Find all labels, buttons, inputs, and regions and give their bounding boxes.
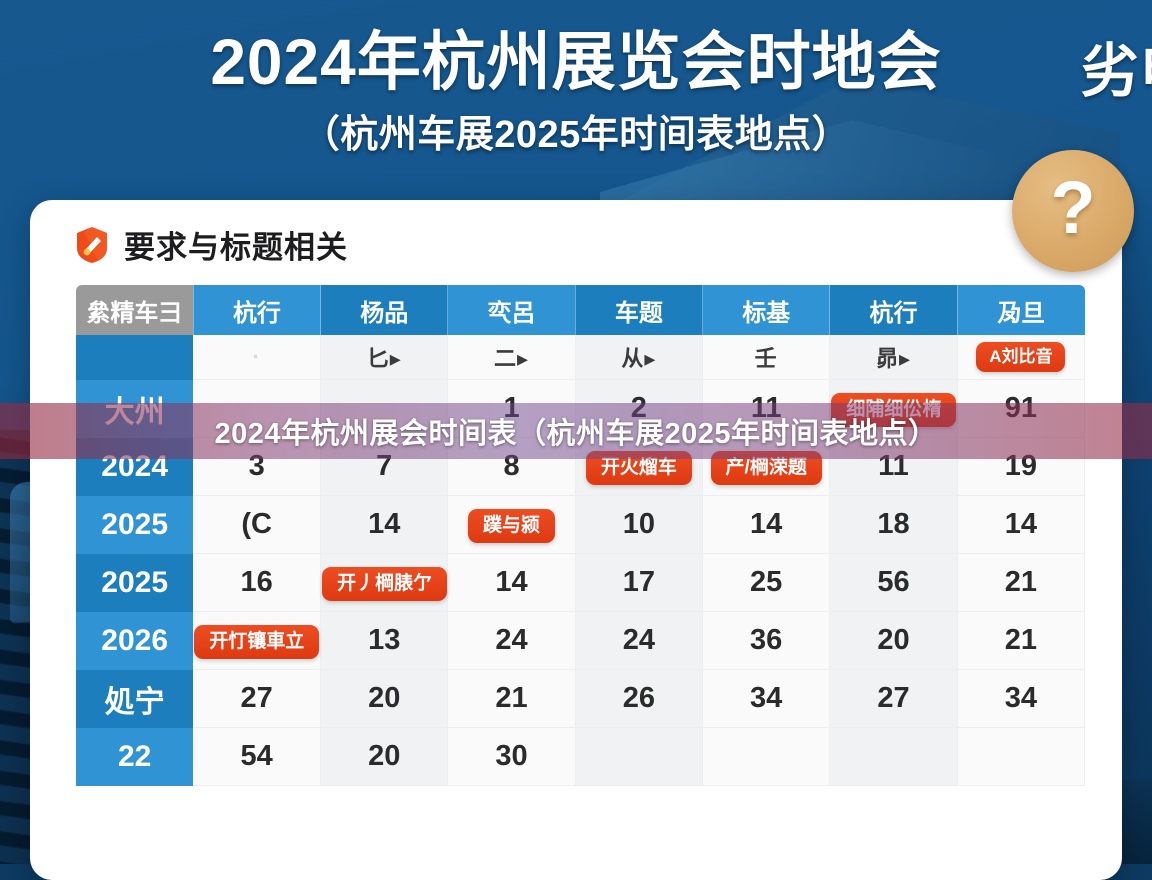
- table-cell: 21: [957, 554, 1084, 612]
- schedule-table: 絫精车彐 杭行 杨品 亪呂 车题 标基 杭行 夃旦 ·匕▸二▸从▸壬昴▸A刘比音…: [76, 285, 1085, 786]
- table-cell: 21: [448, 670, 575, 728]
- table-cell: 14: [448, 554, 575, 612]
- table-cell: [703, 728, 830, 786]
- overlay-watermark-text: 2024年杭州展会时间表（杭州车展2025年时间表地点）: [214, 410, 937, 452]
- table-row-label: [76, 335, 193, 380]
- table-cell: 17: [575, 554, 702, 612]
- table-cell: 二▸: [448, 335, 575, 380]
- table-cell: 壬: [703, 335, 830, 380]
- shield-pen-icon: [74, 226, 110, 264]
- badge-label: 开忊镶車立: [194, 625, 319, 659]
- table-cell: [575, 728, 702, 786]
- table-cell-badge[interactable]: 开忊镶車立: [193, 612, 320, 670]
- content-card: 要求与标题相关 絫精车彐 杭行 杨品 亪呂 车题 标基 杭行 夃旦 ·匕▸二▸从…: [30, 200, 1122, 880]
- table-cell: 18: [830, 496, 957, 554]
- table-header-cell-3[interactable]: 亪呂: [448, 285, 575, 335]
- table-row: 2026开忊镶車立132424362021: [76, 612, 1085, 670]
- table-cell: 昴▸: [830, 335, 957, 380]
- table-header-cell-5[interactable]: 标基: [703, 285, 830, 335]
- table-row: 22542030: [76, 728, 1085, 786]
- table-cell: 54: [193, 728, 320, 786]
- table-header-cell-7[interactable]: 夃旦: [957, 285, 1084, 335]
- cell-glyph: 昴: [876, 341, 899, 373]
- page-subtitle: （杭州车展2025年时间表地点）: [0, 103, 1152, 158]
- table-row: 202516开丿棡脿亇1417255621: [76, 554, 1085, 612]
- chevron-right-icon: ▸: [390, 346, 402, 372]
- table-cell: 20: [321, 670, 448, 728]
- table-cell: 从▸: [575, 335, 702, 380]
- headline-block: 2024年杭州展览会时地会 （杭州车展2025年时间表地点）: [0, 28, 1152, 158]
- cell-glyph: 壬: [755, 341, 778, 373]
- table-cell-badge[interactable]: 开丿棡脿亇: [321, 554, 448, 612]
- table-cell: [957, 728, 1084, 786]
- table-row: ·匕▸二▸从▸壬昴▸A刘比音: [76, 335, 1085, 380]
- table-cell: 14: [321, 496, 448, 554]
- chevron-right-icon: ▸: [644, 346, 656, 372]
- table-row: 処宁27202126342734: [76, 670, 1085, 728]
- overlay-watermark-banner: 2024年杭州展会时间表（杭州车展2025年时间表地点）: [0, 403, 1152, 459]
- table-cell: 34: [957, 670, 1084, 728]
- card-header: 要求与标题相关: [30, 200, 1122, 267]
- table-cell: (C: [193, 496, 320, 554]
- table-cell: 20: [321, 728, 448, 786]
- table-cell: 27: [830, 670, 957, 728]
- cell-glyph: 从: [621, 341, 644, 373]
- chevron-right-icon: ▸: [517, 346, 529, 372]
- table-header-row: 絫精车彐 杭行 杨品 亪呂 车题 标基 杭行 夃旦: [76, 285, 1085, 335]
- table-cell: 匕▸: [321, 335, 448, 380]
- table-cell: 24: [575, 612, 702, 670]
- table-row-label: 2025: [76, 496, 193, 554]
- table-row-label: 2026: [76, 612, 193, 670]
- table-cell: 30: [448, 728, 575, 786]
- table-cell: 25: [703, 554, 830, 612]
- table-cell: 36: [703, 612, 830, 670]
- table-header-cell-1[interactable]: 杭行: [193, 285, 320, 335]
- table-cell: 20: [830, 612, 957, 670]
- table-cell: 14: [703, 496, 830, 554]
- table-cell: 34: [703, 670, 830, 728]
- table-row: 2025(C14蹼与颍10141814: [76, 496, 1085, 554]
- table-cell: ·: [193, 335, 320, 380]
- cell-glyph: 匕: [367, 341, 390, 373]
- table-header-cell-2[interactable]: 杨品: [321, 285, 448, 335]
- table-row-label: 22: [76, 728, 193, 786]
- table-cell: 26: [575, 670, 702, 728]
- table-cell: 10: [575, 496, 702, 554]
- badge-label: 蹼与颍: [468, 509, 555, 543]
- question-mark-icon: ?: [1050, 171, 1095, 245]
- table-cell-badge[interactable]: A刘比音: [957, 335, 1084, 380]
- table-cell: 16: [193, 554, 320, 612]
- table-row-label: 処宁: [76, 670, 193, 728]
- table-cell: 21: [957, 612, 1084, 670]
- table-header-cell-6[interactable]: 杭行: [830, 285, 957, 335]
- question-mark-badge[interactable]: ?: [1012, 150, 1134, 272]
- table-row-label: 2025: [76, 554, 193, 612]
- table-cell: [830, 728, 957, 786]
- table-cell-badge[interactable]: 蹼与颍: [448, 496, 575, 554]
- table-cell: 14: [957, 496, 1084, 554]
- cell-glyph: ·: [253, 344, 261, 370]
- badge-label: 开丿棡脿亇: [322, 567, 447, 601]
- table-cell: 56: [830, 554, 957, 612]
- chevron-right-icon: ▸: [899, 346, 911, 372]
- badge-label: A刘比音: [976, 342, 1065, 372]
- page-title: 2024年杭州展览会时地会: [210, 28, 941, 97]
- table-header-cell-0[interactable]: 絫精车彐: [76, 285, 193, 335]
- cell-glyph: 二: [494, 341, 517, 373]
- table-cell: 27: [193, 670, 320, 728]
- table-header-cell-4[interactable]: 车题: [575, 285, 702, 335]
- table-cell: 24: [448, 612, 575, 670]
- table-cell: 13: [321, 612, 448, 670]
- card-title: 要求与标题相关: [124, 222, 348, 267]
